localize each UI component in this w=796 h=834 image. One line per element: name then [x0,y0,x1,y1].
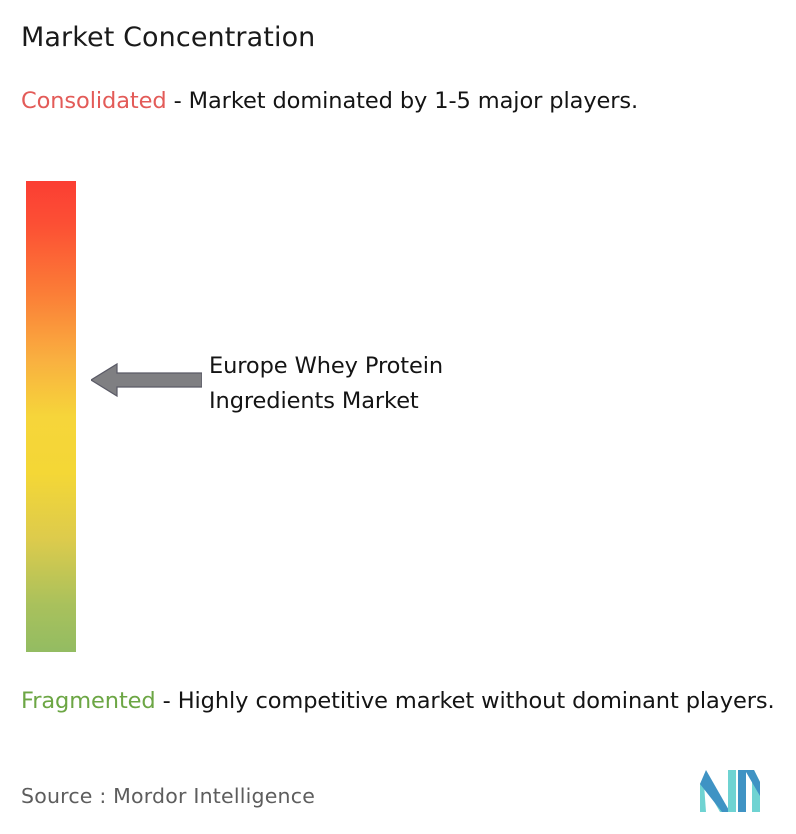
market-label-line-2: Ingredients Market [209,384,609,419]
legend-description-consolidated: - Market dominated by 1-5 major players. [167,88,639,114]
market-concentration-gradient-bar [26,181,76,652]
page-title: Market Concentration [21,21,315,55]
source-attribution: Source : Mordor Intelligence [21,782,315,810]
legend-term-fragmented: Fragmented [21,688,156,714]
legend-description-fragmented: - Highly competitive market without domi… [156,688,775,714]
legend-term-consolidated: Consolidated [21,88,167,114]
legend-fragmented: Fragmented - Highly competitive market w… [21,686,796,717]
legend-consolidated: Consolidated - Market dominated by 1-5 m… [21,86,781,117]
market-position-arrow-icon [91,362,202,398]
market-label: Europe Whey Protein Ingredients Market [209,349,609,419]
mordor-intelligence-logo-icon [698,768,762,812]
market-label-line-1: Europe Whey Protein [209,349,609,384]
